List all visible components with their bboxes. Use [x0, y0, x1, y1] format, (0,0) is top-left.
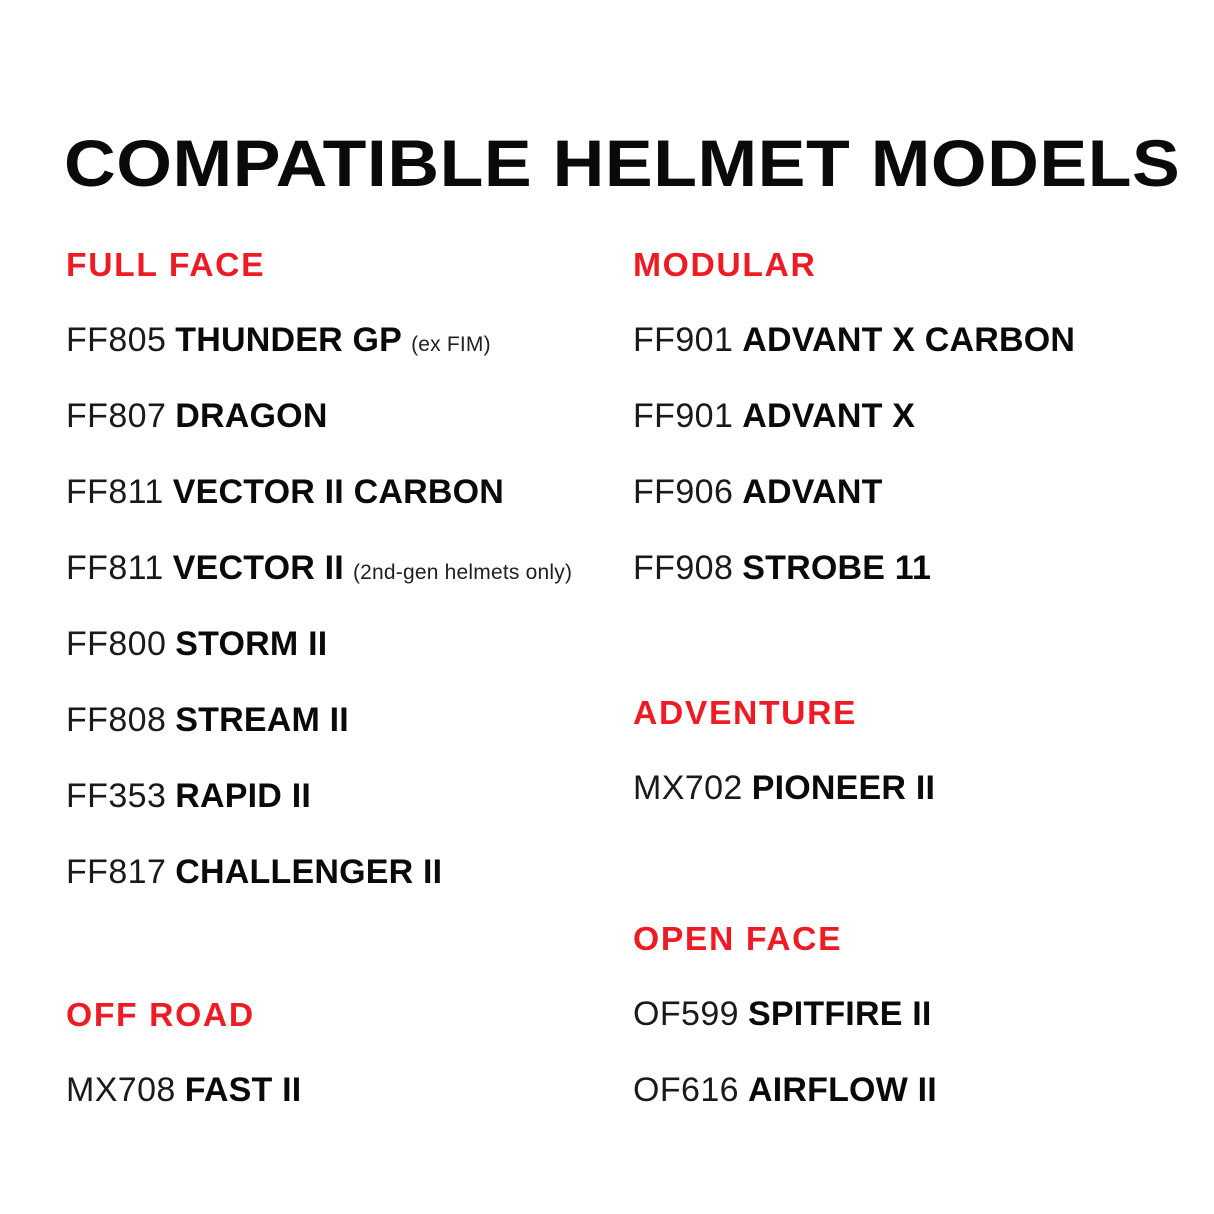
model-name: STORM II	[175, 625, 327, 663]
section-off-road: OFF ROADMX708FAST II	[66, 998, 626, 1134]
model-row: MX702PIONEER II	[633, 768, 935, 808]
model-name: CHALLENGER II	[175, 853, 442, 891]
model-name: STROBE 11	[742, 549, 931, 587]
model-name: DRAGON	[175, 397, 327, 435]
section-heading-modular: MODULAR	[633, 248, 1204, 281]
model-row: FF800STORM II	[66, 624, 327, 664]
model-row: FF817CHALLENGER II	[66, 852, 442, 892]
model-row: FF908STROBE 11	[633, 548, 931, 588]
section-heading-adventure: ADVENTURE	[633, 696, 1204, 729]
model-name: PIONEER II	[752, 769, 935, 807]
model-code: FF906	[633, 473, 733, 511]
model-code: FF805	[66, 321, 166, 359]
model-code: FF908	[633, 549, 733, 587]
model-code: FF811	[66, 549, 164, 587]
section-heading-full-face: FULL FACE	[66, 248, 637, 281]
model-row: FF353RAPID II	[66, 776, 311, 816]
compatible-helmet-models-page: COMPATIBLE HELMET MODELS FULL FACEFF805T…	[0, 0, 1214, 1214]
model-name: SPITFIRE II	[748, 995, 932, 1033]
model-code: OF616	[633, 1071, 739, 1109]
left-column: FULL FACEFF805THUNDER GP(ex FIM)FF807DRA…	[66, 0, 626, 1214]
section-open-face: OPEN FACEOF599SPITFIRE IIOF616AIRFLOW II	[633, 922, 1193, 1134]
model-code: FF808	[66, 701, 166, 739]
model-code: FF353	[66, 777, 166, 815]
model-code: FF811	[66, 473, 164, 511]
model-code: OF599	[633, 995, 739, 1033]
section-adventure: ADVENTUREMX702PIONEER II	[633, 696, 1193, 832]
model-code: MX702	[633, 769, 743, 807]
section-modular: MODULARFF901ADVANT X CARBONFF901ADVANT X…	[633, 248, 1193, 612]
model-name: ADVANT X	[742, 397, 915, 435]
model-row: FF811VECTOR II(2nd-gen helmets only)	[66, 548, 572, 588]
model-name: AIRFLOW II	[748, 1071, 937, 1109]
model-row: FF805THUNDER GP(ex FIM)	[66, 320, 491, 360]
model-row: FF906ADVANT	[633, 472, 883, 512]
model-code: FF800	[66, 625, 166, 663]
section-heading-off-road: OFF ROAD	[66, 998, 637, 1031]
model-name: VECTOR II	[173, 549, 344, 587]
model-code: FF901	[633, 321, 733, 359]
model-name: ADVANT X CARBON	[742, 321, 1075, 359]
section-full-face: FULL FACEFF805THUNDER GP(ex FIM)FF807DRA…	[66, 248, 626, 916]
model-row: FF811VECTOR II CARBON	[66, 472, 504, 512]
model-code: FF901	[633, 397, 733, 435]
model-row: OF616AIRFLOW II	[633, 1070, 937, 1110]
model-row: FF901ADVANT X	[633, 396, 915, 436]
model-code: FF807	[66, 397, 166, 435]
model-code: MX708	[66, 1071, 176, 1109]
model-row: FF901ADVANT X CARBON	[633, 320, 1075, 360]
model-note: (ex FIM)	[411, 333, 491, 356]
section-heading-open-face: OPEN FACE	[633, 922, 1204, 955]
right-column: MODULARFF901ADVANT X CARBONFF901ADVANT X…	[633, 0, 1193, 1214]
model-row: FF808STREAM II	[66, 700, 349, 740]
model-name: RAPID II	[175, 777, 311, 815]
model-row: OF599SPITFIRE II	[633, 994, 932, 1034]
model-note: (2nd-gen helmets only)	[353, 561, 572, 584]
model-row: MX708FAST II	[66, 1070, 301, 1110]
model-name: THUNDER GP	[175, 321, 402, 359]
model-code: FF817	[66, 853, 166, 891]
model-name: VECTOR II CARBON	[173, 473, 504, 511]
model-name: STREAM II	[175, 701, 349, 739]
model-name: ADVANT	[742, 473, 882, 511]
model-row: FF807DRAGON	[66, 396, 328, 436]
model-name: FAST II	[185, 1071, 302, 1109]
